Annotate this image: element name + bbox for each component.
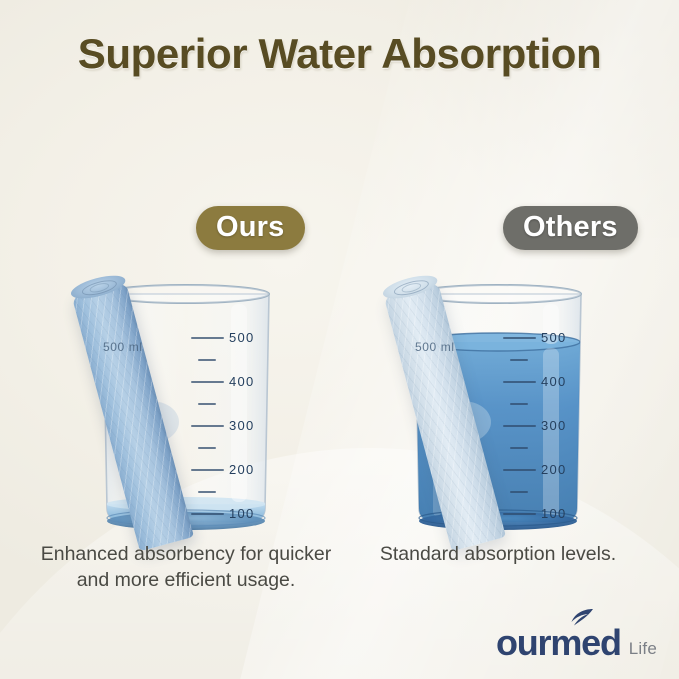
comparison-column-ours: Ours <box>36 130 336 550</box>
beaker-others: 500 ml 500 400 300 200 100 <box>393 282 603 532</box>
beaker-capacity-label-ours: 500 ml <box>103 340 143 354</box>
brand-suffix: Life <box>629 640 657 661</box>
badge-ours: Ours <box>196 206 305 250</box>
leaf-icon <box>569 608 595 630</box>
caption-ours: Enhanced absorbency for quicker and more… <box>36 542 336 593</box>
brand-name: ourmed <box>496 625 621 661</box>
infographic-poster: Superior Water Absorption Ours <box>0 0 679 679</box>
roll-end-cap-icon <box>381 271 440 303</box>
comparison-column-others: Others <box>348 130 648 550</box>
badge-others: Others <box>503 206 638 250</box>
beaker-ours: 500 ml 500 400 300 200 100 <box>81 282 291 532</box>
beaker-capacity-label-others: 500 ml <box>415 340 455 354</box>
page-title: Superior Water Absorption <box>0 30 679 78</box>
brand-logo: ourmed Life <box>496 625 657 661</box>
roll-end-cap-icon <box>69 271 128 303</box>
caption-others: Standard absorption levels. <box>348 542 648 568</box>
brand-name-text: ourmed <box>496 622 621 663</box>
